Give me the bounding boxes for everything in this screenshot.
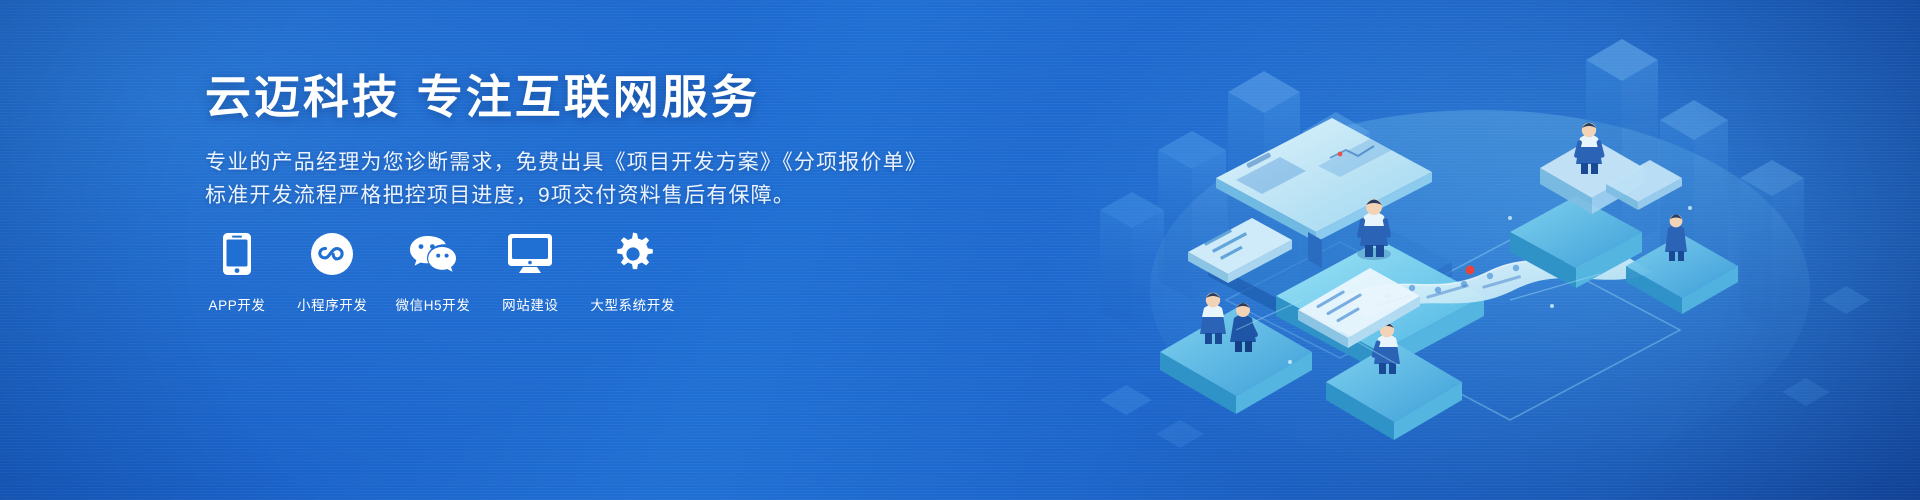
subtitle-line-2: 标准开发流程严格把控项目进度，9项交付资料售后有保障。 xyxy=(205,179,925,212)
service-list: APP开发 小程序开发 xyxy=(205,228,675,314)
service-label: 小程序开发 xyxy=(297,294,368,314)
promo-banner: 云迈科技 专注互联网服务 专业的产品经理为您诊断需求，免费出具《项目开发方案》《… xyxy=(0,0,1920,500)
mobile-phone-icon xyxy=(205,228,269,280)
subtitle-line-1: 专业的产品经理为您诊断需求，免费出具《项目开发方案》《分项报价单》 xyxy=(205,146,925,179)
mini-program-icon xyxy=(300,228,364,280)
isometric-illustration xyxy=(1040,0,1920,500)
wechat-icon xyxy=(401,228,465,280)
monitor-icon xyxy=(498,228,562,280)
service-label: 微信H5开发 xyxy=(396,294,471,314)
gear-icon xyxy=(601,228,665,280)
banner-subtitle: 专业的产品经理为您诊断需求，免费出具《项目开发方案》《分项报价单》 标准开发流程… xyxy=(205,146,925,212)
service-label: 网站建设 xyxy=(502,294,558,314)
service-item-app[interactable]: APP开发 xyxy=(205,228,269,314)
page-title: 云迈科技 专注互联网服务 xyxy=(205,72,925,124)
service-label: APP开发 xyxy=(208,294,265,314)
service-label: 大型系统开发 xyxy=(590,294,675,314)
service-item-wechat[interactable]: 微信H5开发 xyxy=(396,228,471,314)
service-item-website[interactable]: 网站建设 xyxy=(498,228,562,314)
service-item-large-system[interactable]: 大型系统开发 xyxy=(590,228,675,314)
banner-copy: 云迈科技 专注互联网服务 专业的产品经理为您诊断需求，免费出具《项目开发方案》《… xyxy=(205,72,925,212)
service-item-mini-program[interactable]: 小程序开发 xyxy=(297,228,368,314)
